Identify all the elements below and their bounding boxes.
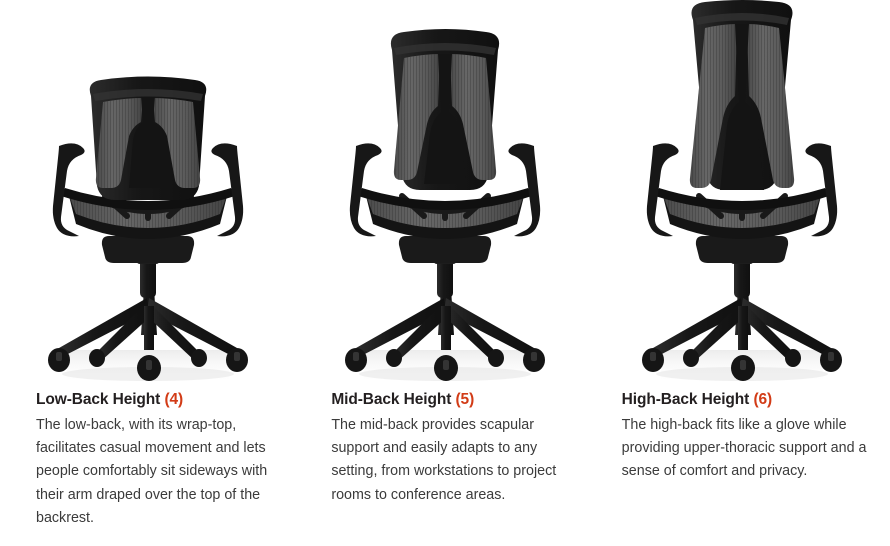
chair-image-high-back[interactable]: [593, 0, 890, 390]
caption-mid-back: Mid-Back Height (5) The mid-back provide…: [304, 390, 599, 546]
caption-number-badge: (6): [753, 391, 772, 408]
caption-number-badge: (5): [455, 391, 474, 408]
caption-title-text: High-Back Height: [622, 391, 750, 408]
high-back-chair-illustration: [617, 0, 867, 390]
tilt-mechanism: [102, 236, 194, 263]
caption-title-high-back: High-Back Height (6): [622, 390, 868, 410]
caption-body-high-back: The high-back fits like a glove while pr…: [622, 414, 868, 483]
caption-title-mid-back: Mid-Back Height (5): [331, 390, 577, 410]
caption-high-back: High-Back Height (6) The high-back fits …: [600, 390, 890, 546]
caption-title-text: Mid-Back Height: [331, 391, 451, 408]
caption-body-low-back: The low-back, with its wrap-top, facilit…: [36, 414, 282, 530]
low-back-chair-illustration: [23, 30, 273, 390]
product-comparison-page: Low-Back Height (4) The low-back, with i…: [0, 0, 890, 546]
caption-low-back: Low-Back Height (4) The low-back, with i…: [0, 390, 304, 546]
chair-image-mid-back[interactable]: [297, 0, 594, 390]
tilt-mechanism: [696, 236, 788, 263]
caption-body-mid-back: The mid-back provides scapular support a…: [331, 414, 577, 507]
chair-image-low-back[interactable]: [0, 0, 297, 390]
tilt-mechanism: [399, 236, 491, 263]
caption-title-low-back: Low-Back Height (4): [36, 390, 282, 410]
caption-row: Low-Back Height (4) The low-back, with i…: [0, 390, 890, 546]
caption-number-badge: (4): [164, 391, 183, 408]
chair-image-gallery: [0, 0, 890, 390]
mid-back-chair-illustration: [320, 4, 570, 390]
caption-title-text: Low-Back Height: [36, 391, 160, 408]
